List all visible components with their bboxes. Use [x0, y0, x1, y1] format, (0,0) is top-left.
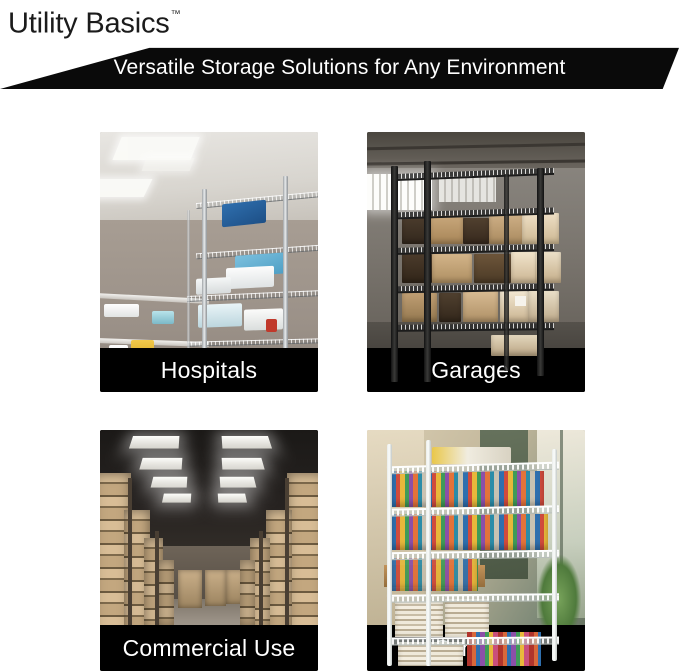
shelf-post — [424, 161, 431, 382]
skylight-icon — [217, 493, 247, 502]
skylight-icon — [128, 436, 179, 449]
wire-shelf — [387, 593, 559, 603]
skylight-icon — [162, 493, 192, 502]
card-caption-garages: Garages — [367, 348, 585, 392]
use-case-card-hospitals[interactable]: Hospitals — [100, 132, 318, 392]
cardboard-box — [402, 293, 437, 322]
supply-box — [104, 304, 139, 317]
cardboard-box — [432, 254, 471, 283]
brand-name: Utility Basics — [8, 8, 170, 40]
skylight-icon — [222, 457, 266, 469]
pallet-rack — [240, 560, 255, 627]
shelf-post — [537, 168, 544, 376]
window — [439, 176, 496, 202]
skylight-icon — [151, 477, 188, 488]
use-case-card-commercial[interactable]: Commercial Use — [100, 430, 318, 671]
cardboard-box — [439, 293, 461, 322]
cardboard-box — [430, 215, 463, 244]
shelf-post — [387, 444, 392, 666]
infographic-page: Utility Basics™ Versatile Storage Soluti… — [0, 0, 679, 671]
shelf-post — [552, 449, 557, 661]
cardboard-box — [511, 252, 537, 283]
shelf-post — [504, 174, 509, 372]
school-library-photo — [367, 430, 585, 671]
rack-upright — [155, 531, 159, 639]
card-caption-commercial: Commercial Use — [100, 625, 318, 671]
trademark-symbol: ™ — [171, 9, 181, 20]
headline-banner: Versatile Storage Solutions for Any Envi… — [0, 47, 679, 89]
cardboard-box — [491, 335, 543, 356]
brand-title: Utility Basics™ — [8, 2, 180, 42]
supply-box — [152, 311, 174, 324]
skylight-icon — [222, 436, 273, 449]
box-label — [515, 296, 526, 306]
shelf-post — [391, 166, 398, 382]
book-row — [391, 514, 548, 550]
skylight-icon — [140, 457, 184, 469]
book-row — [391, 558, 478, 592]
use-case-grid: Hospitals — [0, 132, 679, 671]
use-case-card-garages[interactable]: Garages — [367, 132, 585, 392]
pallet-rack — [159, 560, 174, 627]
shelf-items — [432, 447, 510, 464]
skylight-icon — [220, 477, 257, 488]
book-stack — [395, 601, 443, 637]
cardboard-box — [463, 291, 498, 322]
ceiling-light-icon — [141, 158, 194, 171]
ceiling-light-icon — [100, 179, 152, 197]
shelf-post — [426, 440, 431, 667]
supply-box — [196, 277, 231, 294]
supply-box — [244, 308, 283, 330]
book-row — [391, 471, 544, 507]
wire-shelf — [387, 549, 559, 559]
card-caption-hospitals: Hospitals — [100, 348, 318, 392]
supply-box — [266, 319, 277, 332]
pallet-stack — [178, 570, 202, 609]
pallet-stack — [205, 570, 227, 606]
supply-box — [226, 266, 274, 289]
cardboard-box — [463, 218, 489, 244]
banner-headline: Versatile Storage Solutions for Any Envi… — [0, 47, 679, 89]
wire-shelf — [387, 637, 559, 646]
use-case-card-schools[interactable]: Schools — [367, 430, 585, 671]
rack-upright — [259, 531, 263, 639]
plant-icon — [537, 555, 581, 627]
